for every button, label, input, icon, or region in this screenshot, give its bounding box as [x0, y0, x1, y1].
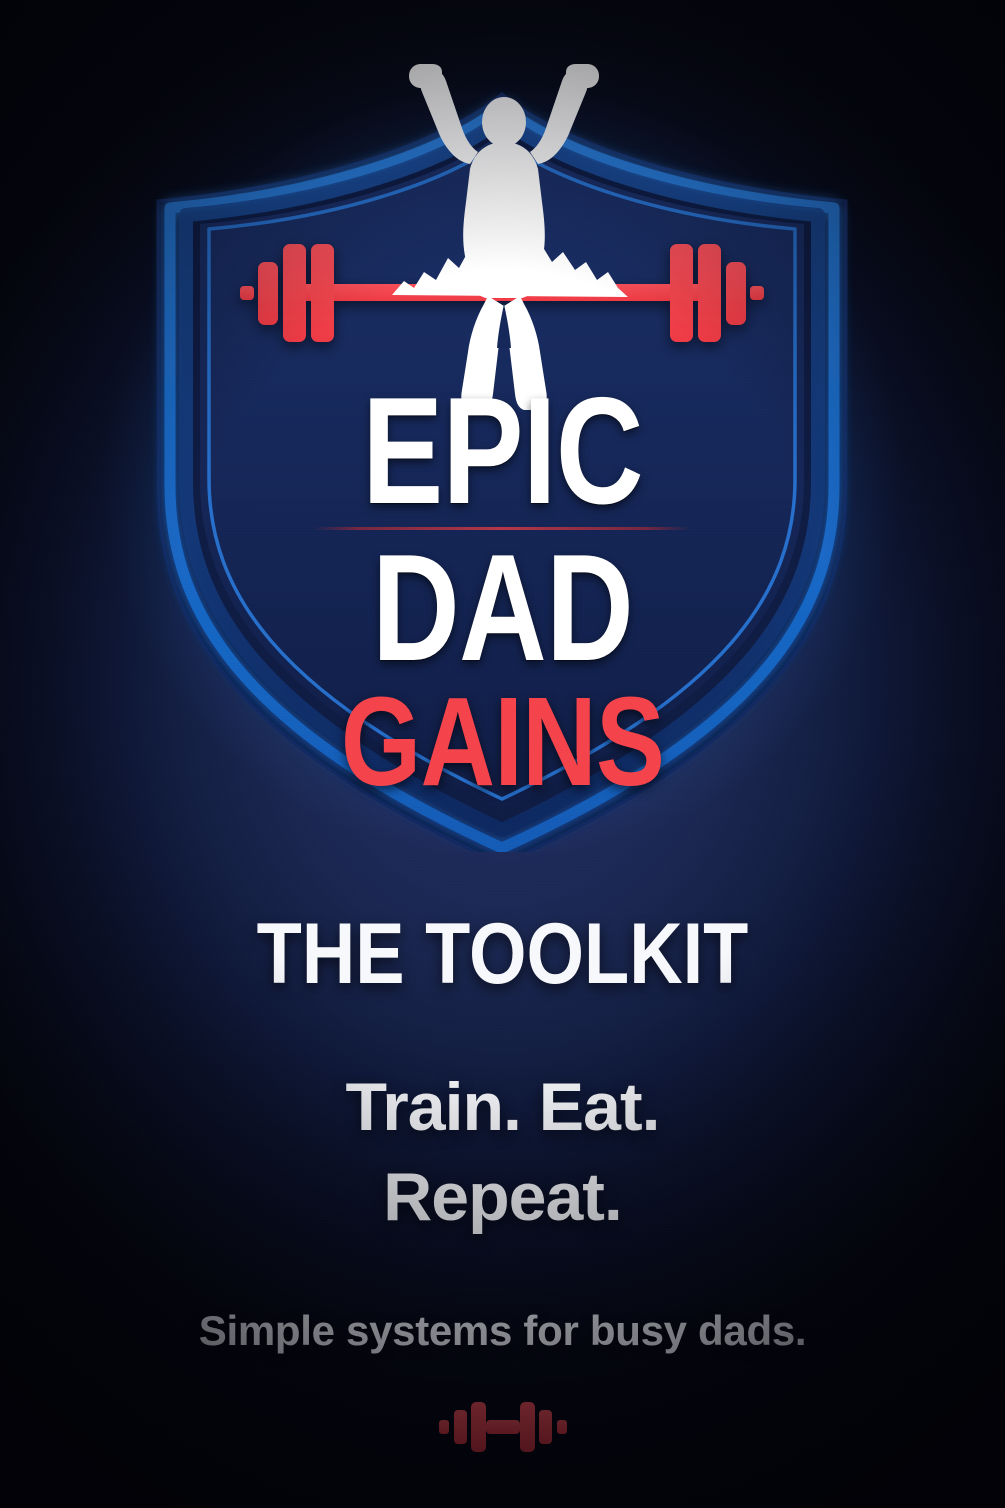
brand-logo: EPIC DAD GAINS: [0, 52, 1005, 852]
dumbbell-right-small: [539, 1410, 552, 1444]
barbell-left-plate-small: [258, 262, 278, 325]
dumbbell-left-small: [454, 1410, 467, 1444]
barbell-left-plate-mid: [283, 244, 306, 342]
subline-train-eat: Train. Eat.: [0, 1068, 1005, 1146]
wordmark-dad: DAD: [101, 539, 905, 679]
tagline: Simple systems for busy dads.: [0, 1307, 1005, 1355]
bottom-mark: [0, 1398, 1005, 1456]
dumbbell-left-nub: [439, 1420, 449, 1434]
dumbbell-left-large: [471, 1402, 486, 1452]
barbell-right-plate-small: [726, 262, 746, 325]
page-headline: THE TOOLKIT: [70, 905, 934, 1004]
barbell-left-nub: [240, 286, 254, 300]
wordmark-gains: GAINS: [90, 684, 914, 800]
subline-repeat: Repeat.: [0, 1158, 1005, 1236]
barbell-right-nub: [750, 286, 764, 300]
poster-canvas: EPIC DAD GAINS THE TOOLKIT Train. Eat. R…: [0, 0, 1005, 1508]
barbell-right-plate-large: [670, 244, 693, 342]
barbell-left-plate-large: [311, 244, 334, 342]
wordmark-epic: EPIC: [101, 382, 905, 522]
barbell-right-plate-mid: [698, 244, 721, 342]
dumbbell-right-large: [520, 1402, 535, 1452]
dumbbell-bar: [486, 1420, 520, 1434]
dumbbell-icon: [433, 1398, 573, 1456]
dumbbell-right-nub: [557, 1420, 567, 1434]
